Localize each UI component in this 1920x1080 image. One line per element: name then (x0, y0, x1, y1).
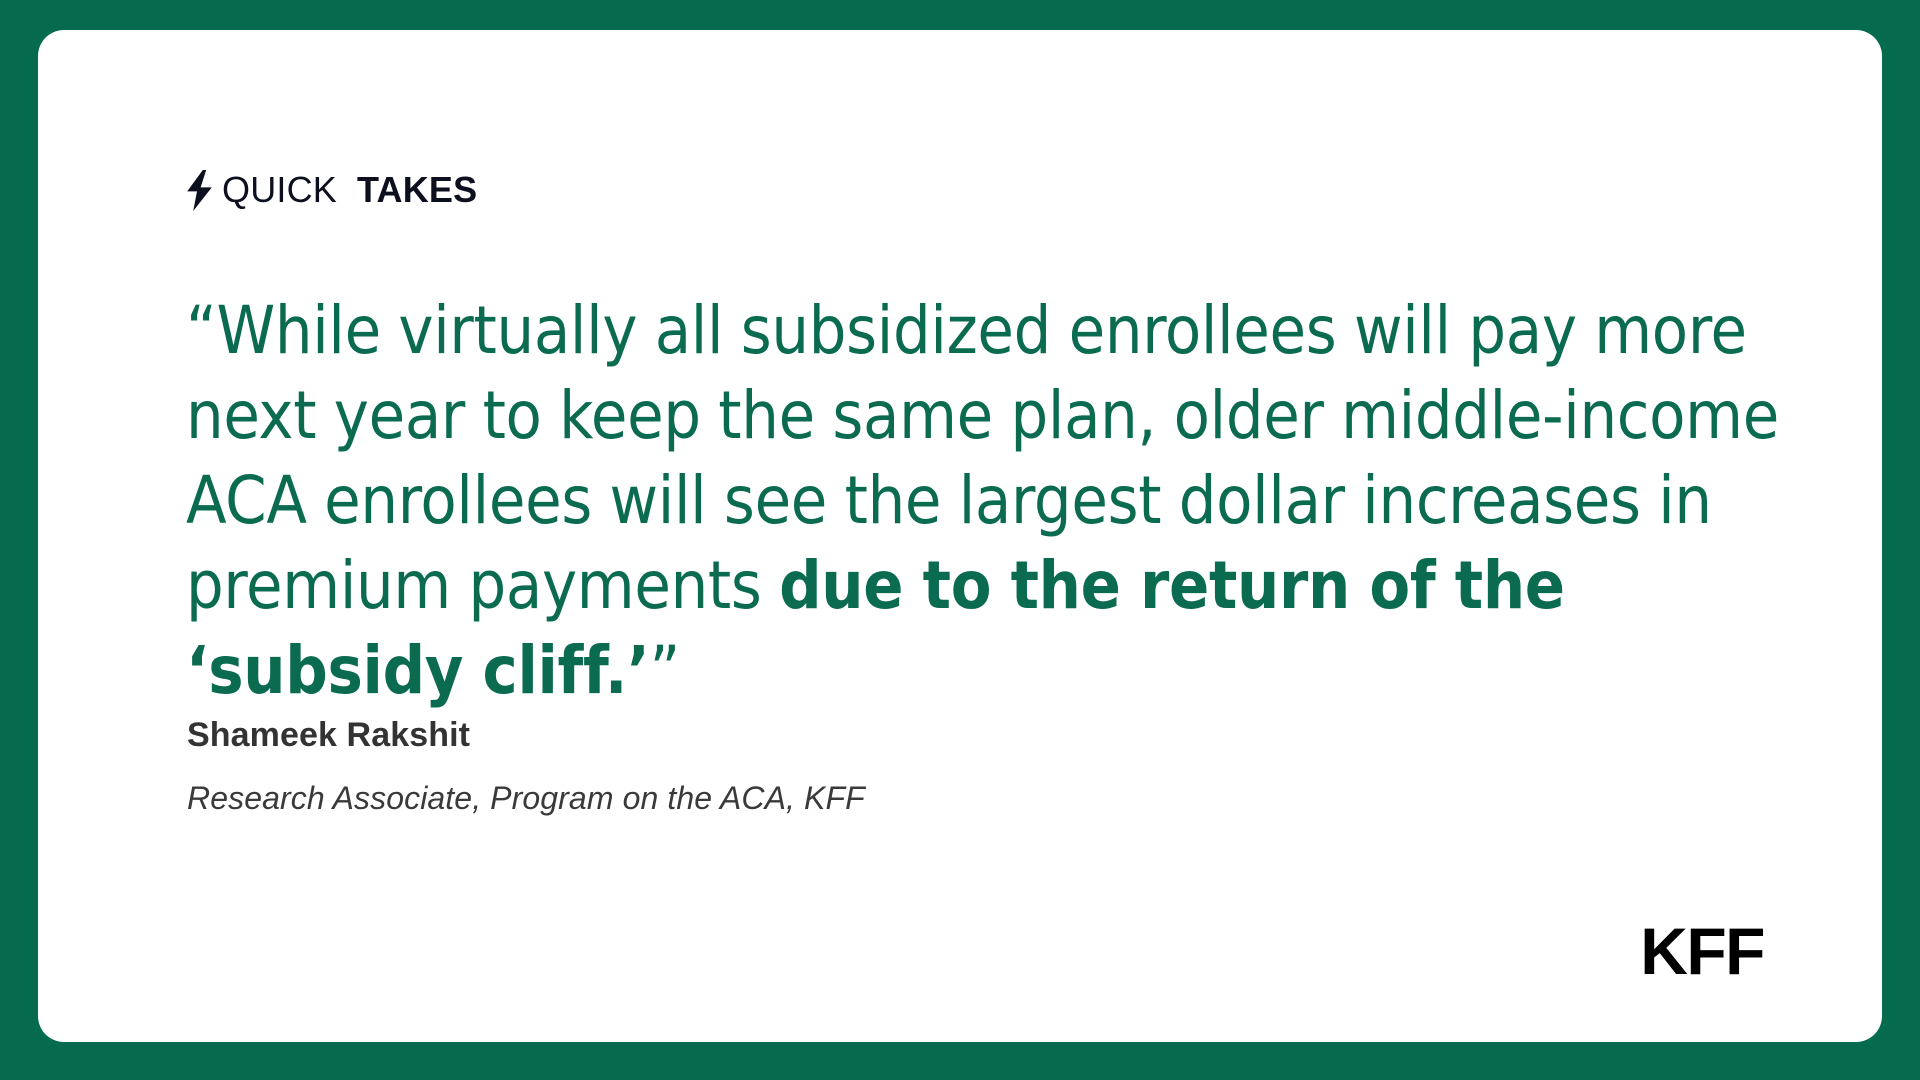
green-frame-background: QUICK TAKES “While virtually all subsidi… (0, 0, 1920, 1080)
attribution-title: Research Associate, Program on the ACA, … (187, 780, 865, 817)
quote-close-mark: ” (649, 632, 679, 709)
kff-logo: KFF (1640, 918, 1764, 984)
attribution-name: Shameek Rakshit (187, 716, 470, 755)
quick-takes-card: QUICK TAKES “While virtually all subsidi… (38, 30, 1882, 1042)
quick-takes-eyebrow: QUICK TAKES (186, 168, 477, 212)
lightning-bolt-icon (186, 170, 213, 211)
quote-open-mark: “ (186, 292, 216, 369)
eyebrow-takes-label: TAKES (357, 172, 477, 208)
eyebrow-quick-label: QUICK (222, 172, 337, 208)
pull-quote: “While virtually all subsidized enrollee… (186, 288, 1806, 713)
